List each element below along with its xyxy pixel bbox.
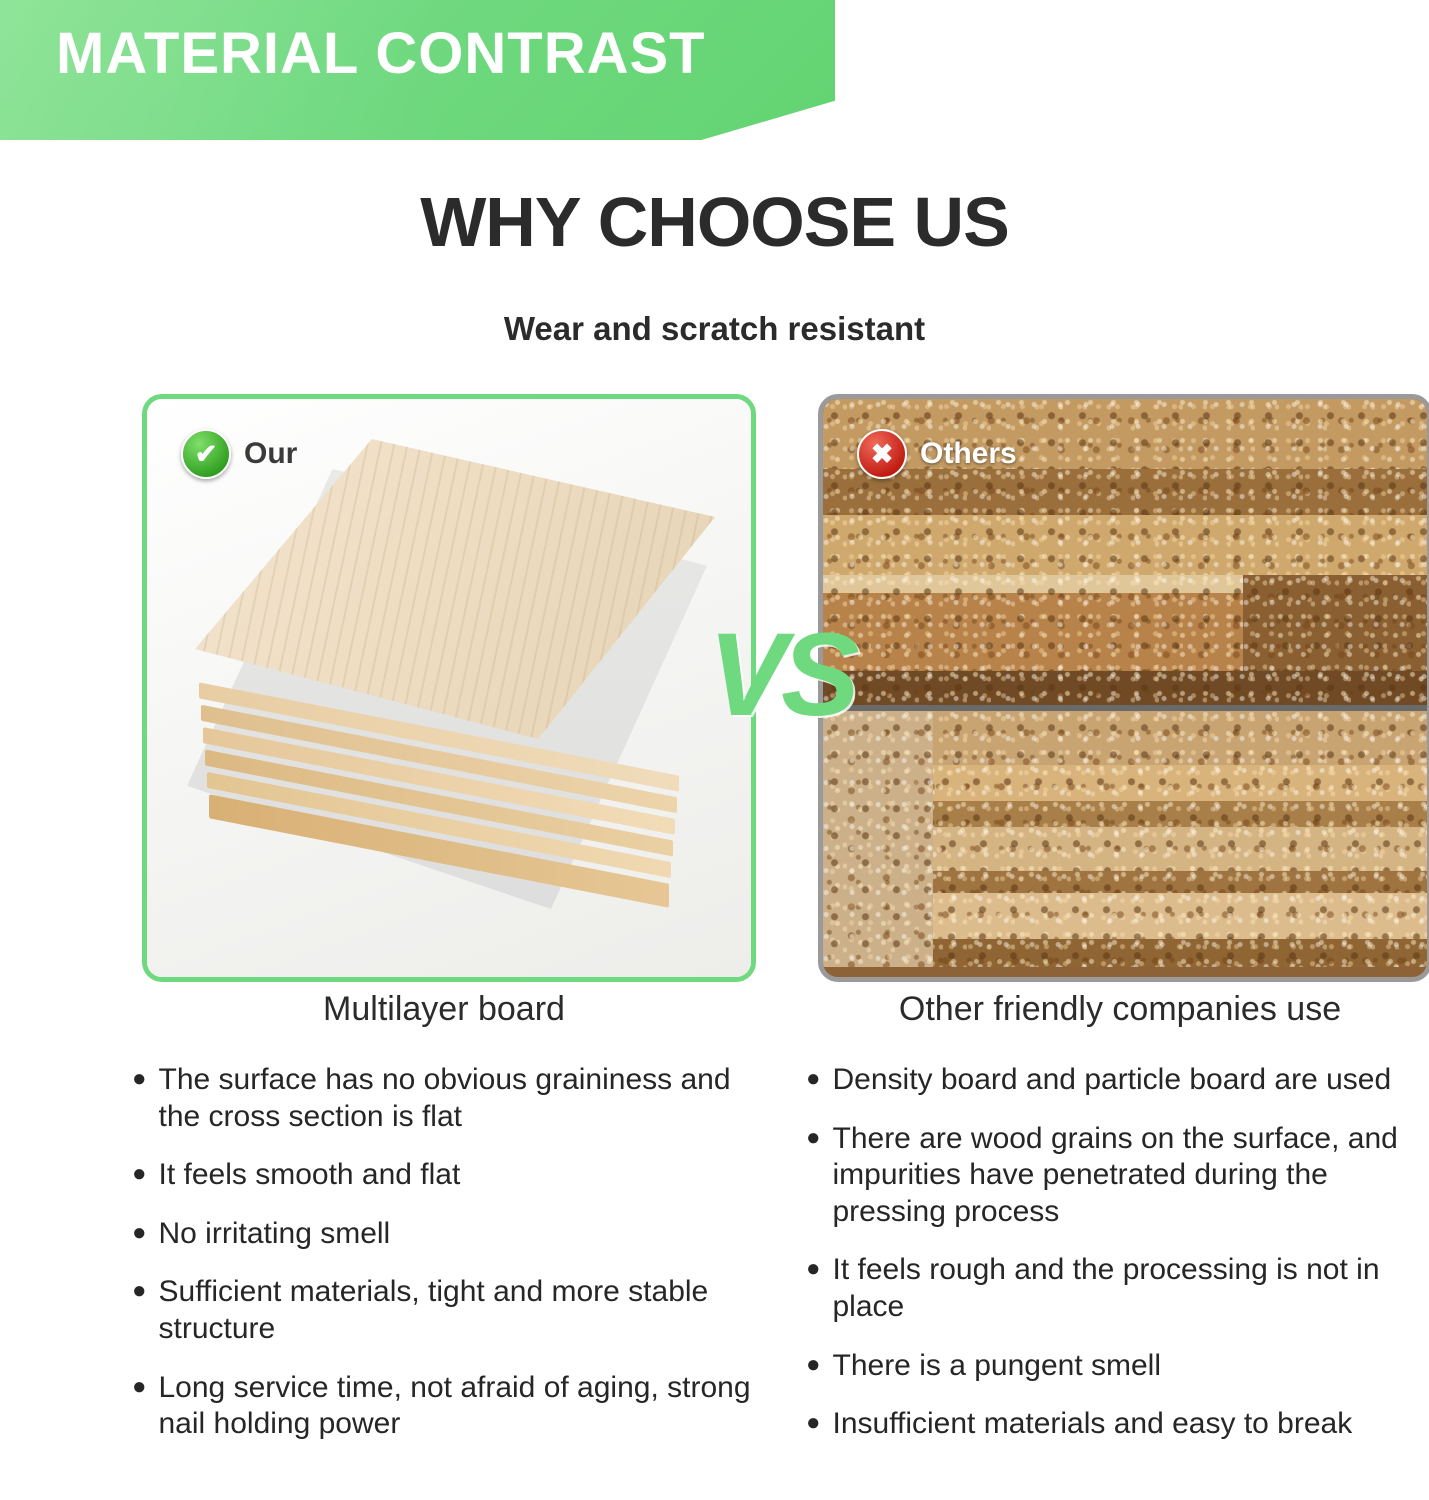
list-item: ● Density board and particle board are u… (806, 1062, 1429, 1099)
particle-slab-9-edge (847, 939, 1427, 967)
list-item-text: The surface has no obvious graininess an… (159, 1062, 773, 1135)
banner-title: MATERIAL CONTRAST (56, 20, 706, 87)
list-item: ● It feels rough and the processing is n… (806, 1252, 1429, 1325)
bullet-dot-icon: ● (806, 1062, 821, 1096)
cross-circle-icon: ✖ (857, 429, 907, 479)
particle-slab-5 (1243, 575, 1427, 671)
list-item-text: There is a pungent smell (833, 1348, 1429, 1385)
left-caption: Multilayer board (142, 990, 746, 1029)
particle-slab-9 (847, 893, 1427, 939)
others-product-image-panel: ✖ Others (818, 394, 1429, 982)
particle-board-photo (823, 399, 1427, 977)
list-item: ● The surface has no obvious graininess … (132, 1062, 772, 1135)
list-item-text: Insufficient materials and easy to break (833, 1406, 1429, 1443)
bullet-dot-icon: ● (132, 1157, 147, 1191)
particle-slab-7-edge (903, 801, 1427, 827)
particle-slab-8 (879, 827, 1427, 871)
bullet-dot-icon: ● (132, 1216, 147, 1250)
list-item-text: No irritating smell (159, 1216, 773, 1253)
list-item: ● Insufficient materials and easy to bre… (806, 1406, 1429, 1443)
page-subtitle: Wear and scratch resistant (0, 310, 1429, 348)
right-caption: Other friendly companies use (818, 990, 1422, 1029)
list-item: ● Long service time, not afraid of aging… (132, 1370, 772, 1443)
multilayer-board-photo (147, 399, 751, 977)
list-item: ● There is a pungent smell (806, 1348, 1429, 1385)
bullet-dot-icon: ● (806, 1121, 821, 1155)
our-feature-list: ● The surface has no obvious graininess … (132, 1062, 772, 1465)
list-item-text: It feels rough and the processing is not… (833, 1252, 1429, 1325)
others-badge: ✖ Others (857, 429, 1017, 479)
particle-slab-3 (823, 515, 1427, 575)
bullet-dot-icon: ● (132, 1274, 147, 1308)
list-item-text: It feels smooth and flat (159, 1157, 773, 1194)
list-item-text: Sufficient materials, tight and more sta… (159, 1274, 773, 1347)
others-badge-label: Others (920, 437, 1017, 471)
bullet-dot-icon: ● (806, 1406, 821, 1440)
versus-mark: VS (706, 600, 856, 750)
bullet-dot-icon: ● (132, 1062, 147, 1096)
our-product-image-panel: ✔ Our (142, 394, 756, 982)
list-item: ● Sufficient materials, tight and more s… (132, 1274, 772, 1347)
list-item: ● There are wood grains on the surface, … (806, 1121, 1429, 1231)
our-badge: ✔ Our (181, 429, 297, 479)
bullet-dot-icon: ● (806, 1348, 821, 1382)
list-item: ● No irritating smell (132, 1216, 772, 1253)
particle-slab-7 (903, 765, 1427, 801)
list-item-text: Long service time, not afraid of aging, … (159, 1370, 773, 1443)
check-circle-icon: ✔ (181, 429, 231, 479)
particle-slab-8-edge (879, 871, 1427, 893)
list-item-text: There are wood grains on the surface, an… (833, 1121, 1429, 1231)
list-item-text: Density board and particle board are use… (833, 1062, 1429, 1099)
list-item: ● It feels smooth and flat (132, 1157, 772, 1194)
our-badge-label: Our (244, 437, 297, 471)
others-feature-list: ● Density board and particle board are u… (806, 1062, 1429, 1465)
particle-gap-shadow (823, 671, 1427, 705)
bullet-dot-icon: ● (132, 1370, 147, 1404)
bullet-dot-icon: ● (806, 1252, 821, 1286)
page-title: WHY CHOOSE US (0, 182, 1429, 262)
